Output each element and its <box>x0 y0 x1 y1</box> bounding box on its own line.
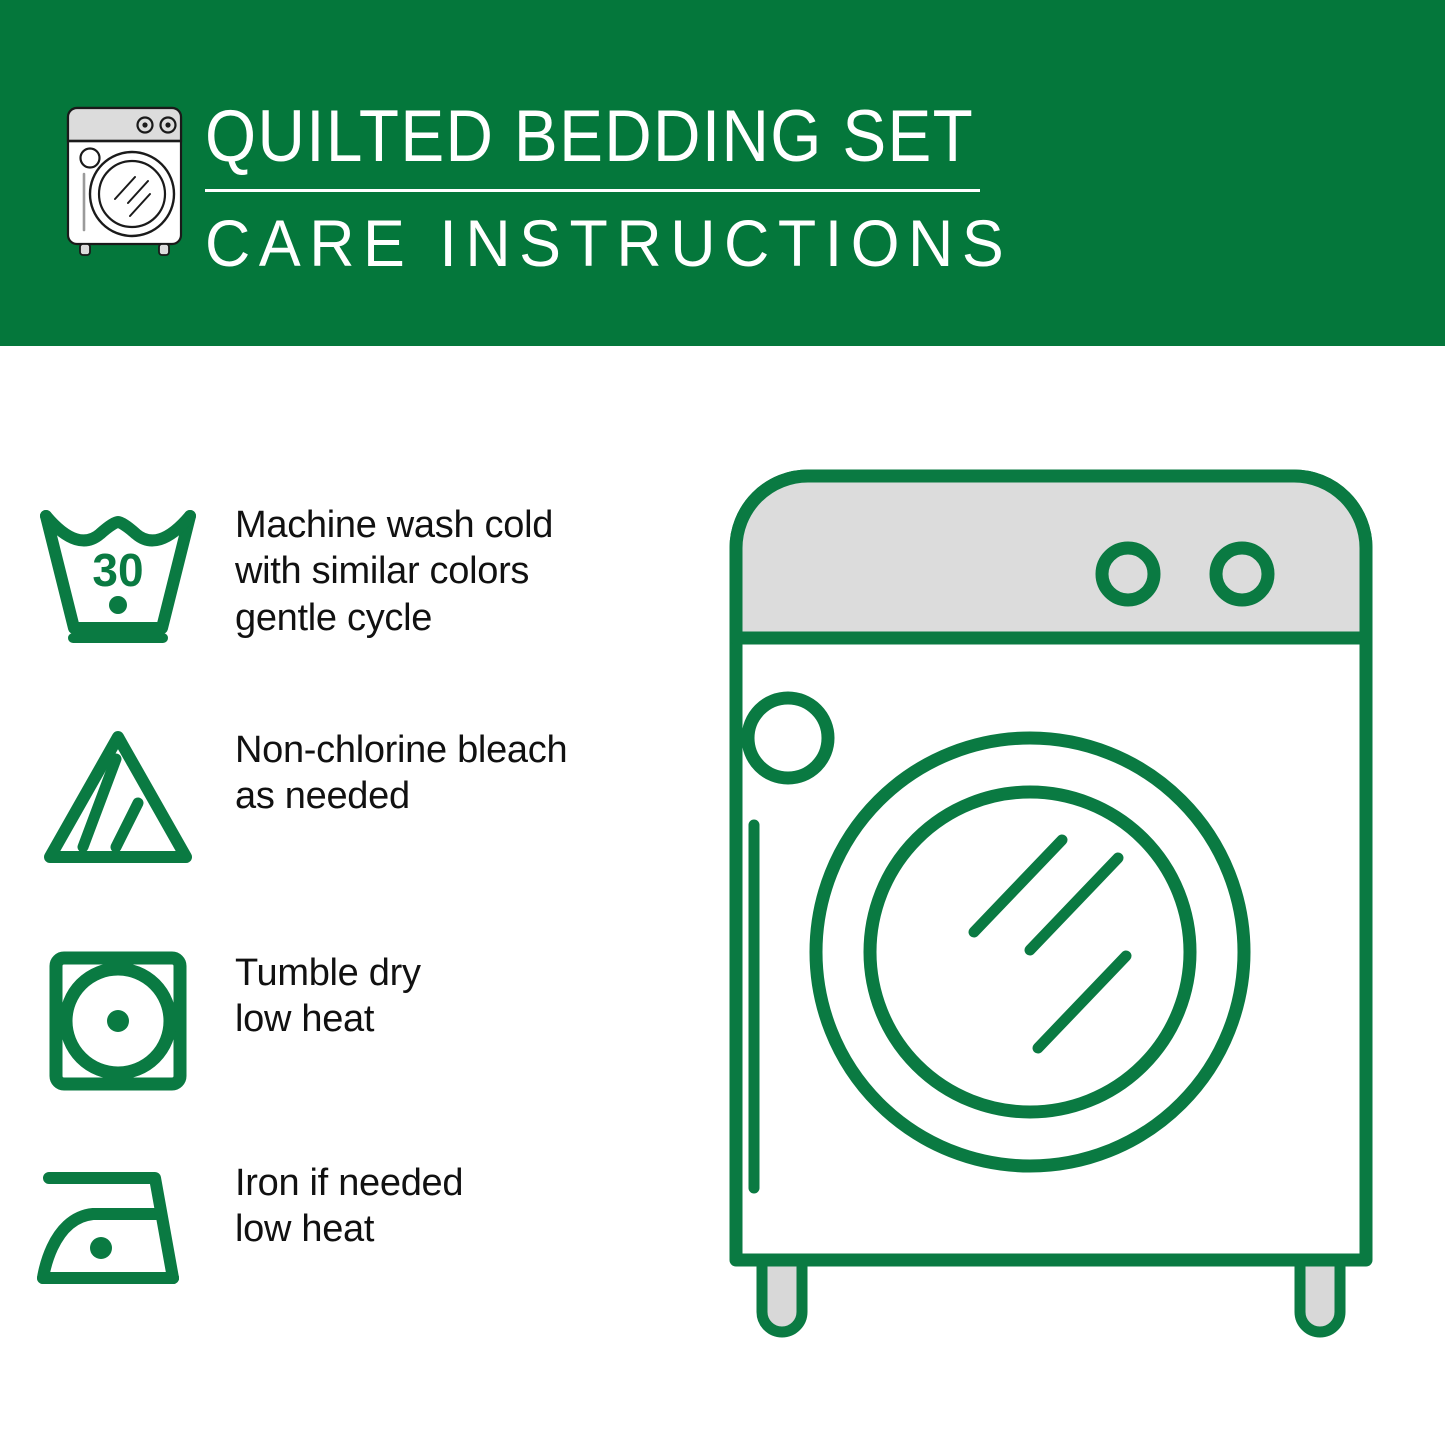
page-title: QUILTED BEDDING SET <box>205 100 1105 173</box>
header-text-block: QUILTED BEDDING SET CARE INSTRUCTIONS <box>205 100 1205 276</box>
page-subtitle: CARE INSTRUCTIONS <box>205 210 1155 276</box>
care-row-label: Iron if needed low heat <box>235 1156 700 1253</box>
header-divider <box>205 189 980 192</box>
care-row-label: Machine wash cold with similar colors ge… <box>235 498 700 641</box>
care-row-iron: Iron if needed low heat <box>0 1156 700 1306</box>
care-row-label: Tumble dry low heat <box>235 946 700 1043</box>
care-row-machine-wash: 30 Machine wash cold with similar colors… <box>0 498 700 648</box>
bleach-triangle-icon <box>0 723 235 873</box>
care-row-tumble-dry: Tumble dry low heat <box>0 946 700 1096</box>
care-instructions-page: QUILTED BEDDING SET CARE INSTRUCTIONS 30 <box>0 0 1445 1445</box>
tumble-dry-square-icon <box>0 946 235 1096</box>
header-banner: QUILTED BEDDING SET CARE INSTRUCTIONS <box>0 0 1445 346</box>
care-row-label: Non-chlorine bleach as needed <box>235 723 700 820</box>
svg-text:30: 30 <box>92 544 143 596</box>
washing-machine-illustration <box>700 440 1420 1380</box>
washing-machine-icon <box>62 104 192 256</box>
iron-icon <box>0 1156 235 1306</box>
care-row-bleach: Non-chlorine bleach as needed <box>0 723 700 873</box>
care-instruction-list: 30 Machine wash cold with similar colors… <box>0 346 700 1445</box>
wash-tub-30-icon: 30 <box>0 498 235 648</box>
